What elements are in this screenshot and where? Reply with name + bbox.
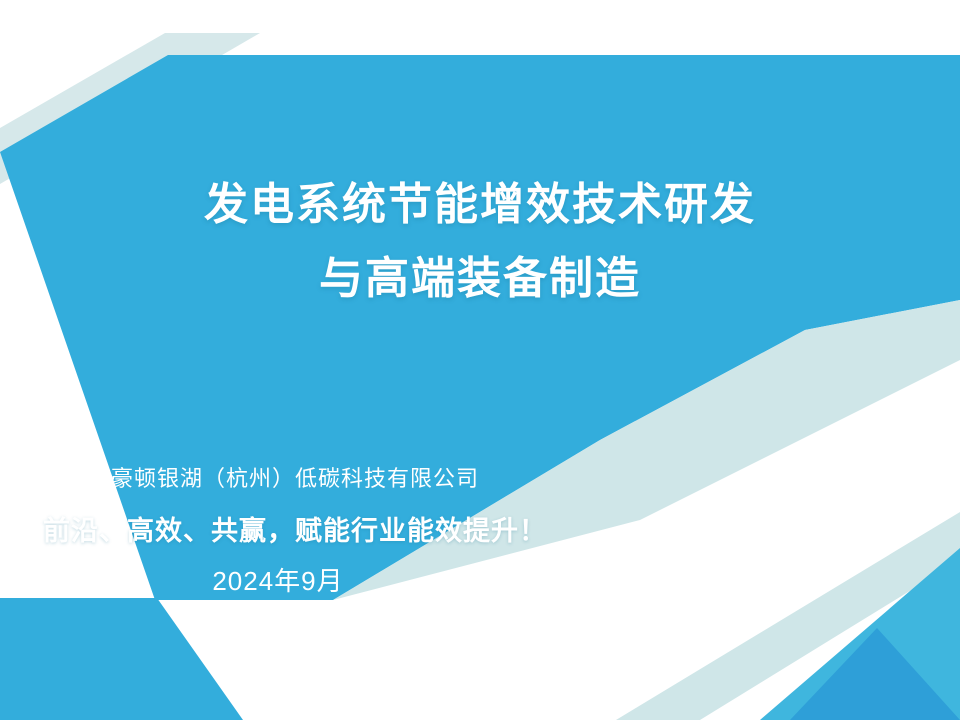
date-block: 2024年9月 — [0, 562, 556, 600]
title-line-2: 与高端装备制造 — [0, 242, 960, 316]
slide-date: 2024年9月 — [0, 562, 556, 600]
organization-block: 豪顿银湖（杭州）低碳科技有限公司 — [0, 462, 590, 496]
presentation-slide: 发电系统节能增效技术研发 与高端装备制造 豪顿银湖（杭州）低碳科技有限公司 前沿… — [0, 0, 960, 720]
tagline-text: 前沿、高效、共赢，赋能行业能效提升！ — [0, 512, 590, 550]
page-title: 发电系统节能增效技术研发 与高端装备制造 — [0, 168, 960, 316]
title-line-1: 发电系统节能增效技术研发 — [0, 168, 960, 242]
organization-name: 豪顿银湖（杭州）低碳科技有限公司 — [0, 462, 590, 496]
slide-content: 发电系统节能增效技术研发 与高端装备制造 豪顿银湖（杭州）低碳科技有限公司 前沿… — [0, 0, 960, 720]
tagline-block: 前沿、高效、共赢，赋能行业能效提升！ — [0, 512, 590, 550]
